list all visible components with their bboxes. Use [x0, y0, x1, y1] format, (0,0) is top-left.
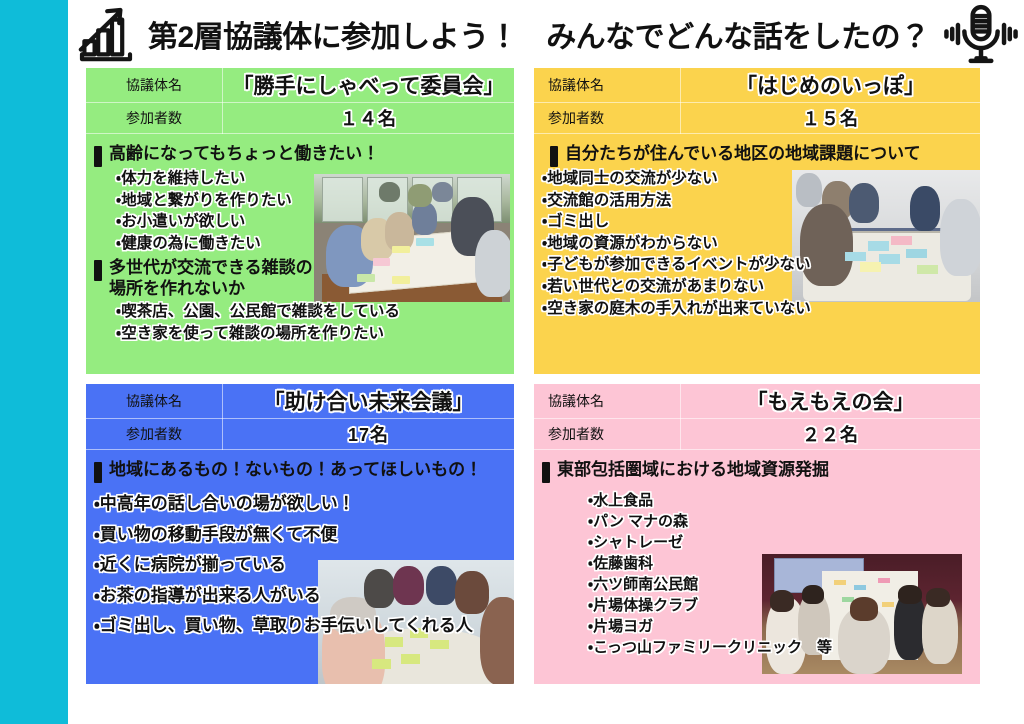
- topic-heading-text: 東部包括圏域における地域資源発掘: [557, 460, 829, 481]
- table-row: 参加者数 ２２名: [534, 419, 980, 450]
- list-item: 中高年の話し合いの場が欲しい！: [94, 493, 506, 516]
- topic-bullet-list: 水上食品 パン マナの森 シャトレーゼ 佐藤歯科 六ツ師南公民館 片場体操クラブ…: [588, 491, 972, 658]
- value-group-name: 「はじめのいっぽ」: [681, 68, 981, 103]
- topic-marker-icon: [94, 146, 102, 167]
- topic-marker-icon: [550, 146, 558, 167]
- info-table-blue: 協議体名 「助け合い未来会議」 参加者数 17名: [86, 384, 514, 450]
- info-table-green: 協議体名 「勝手にしゃべって委員会」 参加者数 １４名: [86, 68, 514, 134]
- list-item: 水上食品: [588, 491, 972, 511]
- topic-heading: 東部包括圏域における地域資源発掘: [542, 460, 972, 483]
- panel-green-body: 高齢になってもちょっと働きたい！ 体力を維持したい 地域と繋がりを作りたい お小…: [86, 134, 514, 344]
- list-item: 若い世代との交流があまりない: [542, 277, 972, 298]
- topic-heading: 自分たちが住んでいる地区の地域課題について: [550, 144, 972, 167]
- poster-title-left: 第2層協議体に参加しよう！: [148, 12, 518, 56]
- panel-pink-body: 東部包括圏域における地域資源発掘 水上食品 パン マナの森 シャトレーゼ 佐藤歯…: [534, 450, 980, 658]
- list-item: 買い物の移動手段が無くて不便: [94, 524, 506, 547]
- left-accent-band: [0, 0, 68, 724]
- list-item: 佐藤歯科: [588, 554, 972, 574]
- label-participants: 参加者数: [534, 419, 681, 450]
- table-row: 協議体名 「はじめのいっぽ」: [534, 68, 980, 103]
- value-participants: １４名: [223, 103, 515, 134]
- label-group-name: 協議体名: [86, 68, 223, 103]
- table-row: 参加者数 17名: [86, 419, 514, 450]
- list-item: ゴミ出し、買い物、草取りお手伝いしてくれる人: [94, 615, 506, 638]
- poster-header: 第2層協議体に参加しよう！ みんなでどんな話をしたの？: [68, 0, 1024, 68]
- list-item: パン マナの森: [588, 512, 972, 532]
- value-participants: １５名: [681, 103, 981, 134]
- panel-pink: 協議体名 「もえもえの会」 参加者数 ２２名: [534, 384, 980, 684]
- table-row: 参加者数 １５名: [534, 103, 980, 134]
- value-group-name: 「助け合い未来会議」: [223, 384, 515, 419]
- info-table-yellow: 協議体名 「はじめのいっぽ」 参加者数 １５名: [534, 68, 980, 134]
- label-participants: 参加者数: [86, 103, 223, 134]
- poster-page: 第2層協議体に参加しよう！ みんなでどんな話をしたの？: [0, 0, 1024, 724]
- topic-heading: 高齢になってもちょっと働きたい！: [94, 144, 506, 167]
- list-item: 空き家の庭木の手入れが出来ていない: [542, 299, 972, 320]
- list-item: 喫茶店、公園、公民館で雑談をしている: [116, 302, 506, 323]
- topic-marker-icon: [94, 260, 102, 281]
- topic-bullet-list: 中高年の話し合いの場が欲しい！ 買い物の移動手段が無くて不便 近くに病院が揃って…: [94, 493, 506, 638]
- table-row: 協議体名 「助け合い未来会議」: [86, 384, 514, 419]
- list-item: 地域同士の交流が少ない: [542, 169, 972, 190]
- list-item: 交流館の活用方法: [542, 191, 972, 212]
- list-item: 近くに病院が揃っている: [94, 554, 506, 577]
- poster-title-right: みんなでどんな話をしたの？: [546, 12, 930, 56]
- bar-chart-growth-icon: [68, 1, 144, 67]
- list-item: 六ツ師南公民館: [588, 575, 972, 595]
- list-item: 健康の為に働きたい: [116, 234, 506, 255]
- topic-marker-icon: [542, 462, 550, 483]
- topic-bullet-list: 地域同士の交流が少ない 交流館の活用方法 ゴミ出し 地域の資源がわからない 子ど…: [542, 169, 972, 319]
- list-item: 体力を維持したい: [116, 169, 506, 190]
- table-row: 協議体名 「勝手にしゃべって委員会」: [86, 68, 514, 103]
- list-item: ゴミ出し: [542, 212, 972, 233]
- panel-yellow-body: 自分たちが住んでいる地区の地域課題について 地域同士の交流が少ない 交流館の活用…: [534, 134, 980, 319]
- label-group-name: 協議体名: [86, 384, 223, 419]
- list-item: シャトレーゼ: [588, 533, 972, 553]
- list-item: 片場ヨガ: [588, 617, 972, 637]
- value-group-name: 「もえもえの会」: [681, 384, 981, 419]
- value-participants: ２２名: [681, 419, 981, 450]
- topic-marker-icon: [94, 462, 102, 483]
- value-group-name: 「勝手にしゃべって委員会」: [223, 68, 515, 103]
- panel-yellow: 協議体名 「はじめのいっぽ」 参加者数 １５名: [534, 68, 980, 374]
- table-row: 協議体名 「もえもえの会」: [534, 384, 980, 419]
- topic-heading-text: 自分たちが住んでいる地区の地域課題について: [565, 144, 921, 165]
- microphone-icon: [938, 1, 1024, 67]
- label-group-name: 協議体名: [534, 68, 681, 103]
- list-item: 空き家を使って雑談の場所を作りたい: [116, 324, 506, 345]
- list-item: こっつ山ファミリークリニック 等: [588, 638, 972, 658]
- list-item: 子どもが参加できるイベントが少ない: [542, 255, 972, 276]
- label-participants: 参加者数: [534, 103, 681, 134]
- topic-bullet-list: 体力を維持したい 地域と繋がりを作りたい お小遣いが欲しい 健康の為に働きたい: [116, 169, 506, 254]
- label-participants: 参加者数: [86, 419, 223, 450]
- list-item: お茶の指導が出来る人がいる: [94, 585, 506, 608]
- panel-blue: 協議体名 「助け合い未来会議」 参加者数 17名: [86, 384, 514, 684]
- topic-heading-text: 多世代が交流できる雑談の 場所を作れないか: [109, 258, 313, 299]
- panel-green: 協議体名 「勝手にしゃべって委員会」 参加者数 １４名: [86, 68, 514, 374]
- panel-blue-body: 地域にあるもの！ないもの！あってほしいもの！ 中高年の話し合いの場が欲しい！ 買…: [86, 450, 514, 638]
- list-item: 片場体操クラブ: [588, 596, 972, 616]
- label-group-name: 協議体名: [534, 384, 681, 419]
- list-item: お小遣いが欲しい: [116, 212, 506, 233]
- topic-bullet-list: 喫茶店、公園、公民館で雑談をしている 空き家を使って雑談の場所を作りたい: [116, 302, 506, 344]
- topic-heading-text: 高齢になってもちょっと働きたい！: [109, 144, 379, 165]
- topic-heading-text: 地域にあるもの！ないもの！あってほしいもの！: [109, 460, 482, 481]
- table-row: 参加者数 １４名: [86, 103, 514, 134]
- list-item: 地域の資源がわからない: [542, 234, 972, 255]
- topic-heading: 地域にあるもの！ないもの！あってほしいもの！: [94, 460, 506, 483]
- value-participants: 17名: [223, 419, 515, 450]
- list-item: 地域と繋がりを作りたい: [116, 191, 506, 212]
- info-table-pink: 協議体名 「もえもえの会」 参加者数 ２２名: [534, 384, 980, 450]
